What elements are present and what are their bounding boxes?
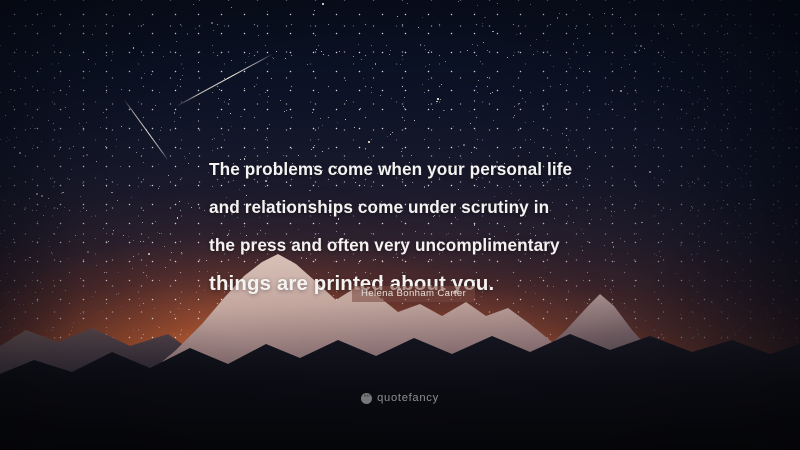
quote-text-block: The problems come when your personal lif… <box>209 150 629 304</box>
watermark-brand: quotefancy <box>377 392 439 404</box>
quote-mark-glyph: ““ <box>364 394 370 401</box>
quote-author: Helena Bonham Carter <box>352 286 475 302</box>
quotefancy-logo-icon: ““ <box>361 393 372 404</box>
watermark: ““ quotefancy <box>0 392 800 404</box>
quote-poster: The problems come when your personal lif… <box>0 0 800 450</box>
quote-line-1: The problems come when your personal lif… <box>209 150 629 188</box>
quote-line-2: and relationships come under scrutiny in <box>209 188 629 226</box>
quote-line-3: the press and often very uncomplimentary <box>209 226 629 264</box>
